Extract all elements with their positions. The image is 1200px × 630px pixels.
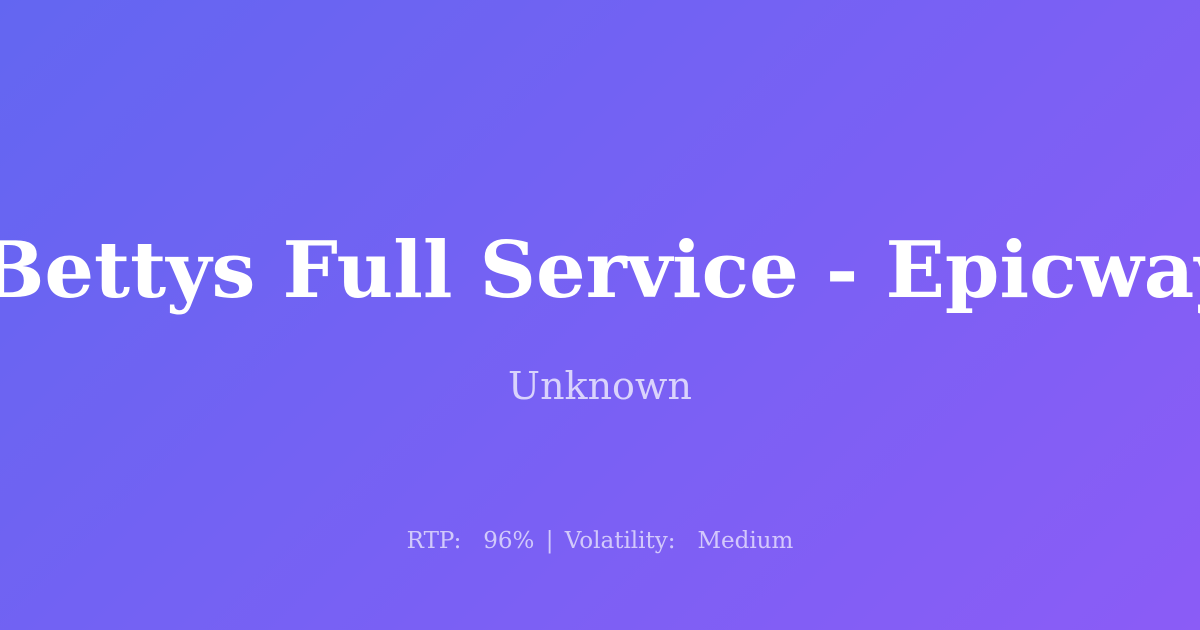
stats-separator: |: [542, 528, 558, 554]
og-share-card: F 1 0 B Bettys Full Service - Epicways U…: [0, 0, 1200, 630]
game-title-row: F 1 0 B Bettys Full Service - Epicways: [0, 232, 1200, 310]
volatility-label: Volatility:: [565, 528, 676, 554]
rtp-value: 96%: [483, 528, 534, 554]
game-provider-subtitle: Unknown: [0, 364, 1200, 410]
game-stats-line: RTP: 96% | Volatility: Medium: [0, 527, 1200, 557]
volatility-value: Medium: [697, 528, 793, 554]
page-title: Bettys Full Service - Epicways: [0, 232, 1200, 310]
rtp-label: RTP:: [407, 528, 462, 554]
